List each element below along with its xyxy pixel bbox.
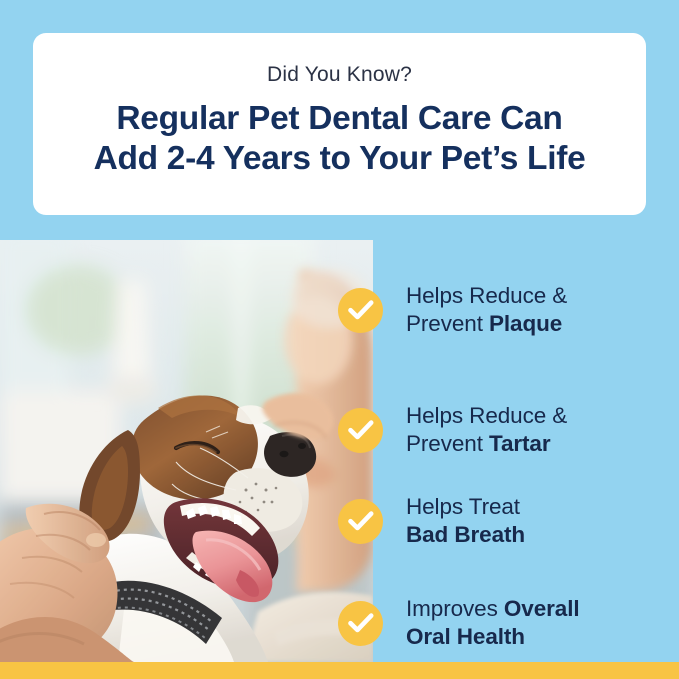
benefit-line-2: Bad Breath xyxy=(406,521,525,549)
benefit-text: Improves Overall Oral Health xyxy=(406,595,580,650)
checkmark-icon xyxy=(338,408,383,453)
benefit-line-2-bold: Plaque xyxy=(489,311,562,336)
benefit-line-1: Helps Treat xyxy=(406,493,525,521)
benefit-line-1-bold: Overall xyxy=(504,596,580,621)
headline-line-1: Regular Pet Dental Care Can xyxy=(94,99,586,139)
eyebrow-text: Did You Know? xyxy=(267,63,412,86)
headline-card: Did You Know? Regular Pet Dental Care Ca… xyxy=(33,33,646,215)
checkmark-icon xyxy=(338,601,383,646)
bottom-accent-bar xyxy=(0,662,679,679)
dog-and-owner-photo xyxy=(0,240,373,662)
benefit-text: Helps Reduce & Prevent Plaque xyxy=(406,282,567,337)
infographic-root: Did You Know? Regular Pet Dental Care Ca… xyxy=(0,0,679,679)
headline-line-2: Add 2-4 Years to Your Pet’s Life xyxy=(94,139,586,179)
checkmark-icon xyxy=(338,288,383,333)
benefit-line-1: Improves Overall xyxy=(406,595,580,623)
checkmark-icon xyxy=(338,499,383,544)
benefit-line-2-bold: Oral Health xyxy=(406,624,525,649)
benefit-item-oral-health: Improves Overall Oral Health xyxy=(338,552,679,679)
benefits-list: Helps Reduce & Prevent Plaque Helps Redu… xyxy=(338,240,679,662)
benefit-line-1: Helps Reduce & xyxy=(406,402,567,430)
benefit-line-2: Oral Health xyxy=(406,623,580,651)
benefit-item-plaque: Helps Reduce & Prevent Plaque xyxy=(338,240,679,380)
benefit-line-2-plain: Prevent xyxy=(406,311,489,336)
page-title: Regular Pet Dental Care Can Add 2-4 Year… xyxy=(94,99,586,179)
benefit-line-2-bold: Bad Breath xyxy=(406,522,525,547)
benefit-line-2: Prevent Plaque xyxy=(406,310,567,338)
benefit-line-1-plain: Improves xyxy=(406,596,504,621)
benefit-text: Helps Reduce & Prevent Tartar xyxy=(406,402,567,457)
benefit-text: Helps Treat Bad Breath xyxy=(406,493,525,548)
benefit-line-1: Helps Reduce & xyxy=(406,282,567,310)
